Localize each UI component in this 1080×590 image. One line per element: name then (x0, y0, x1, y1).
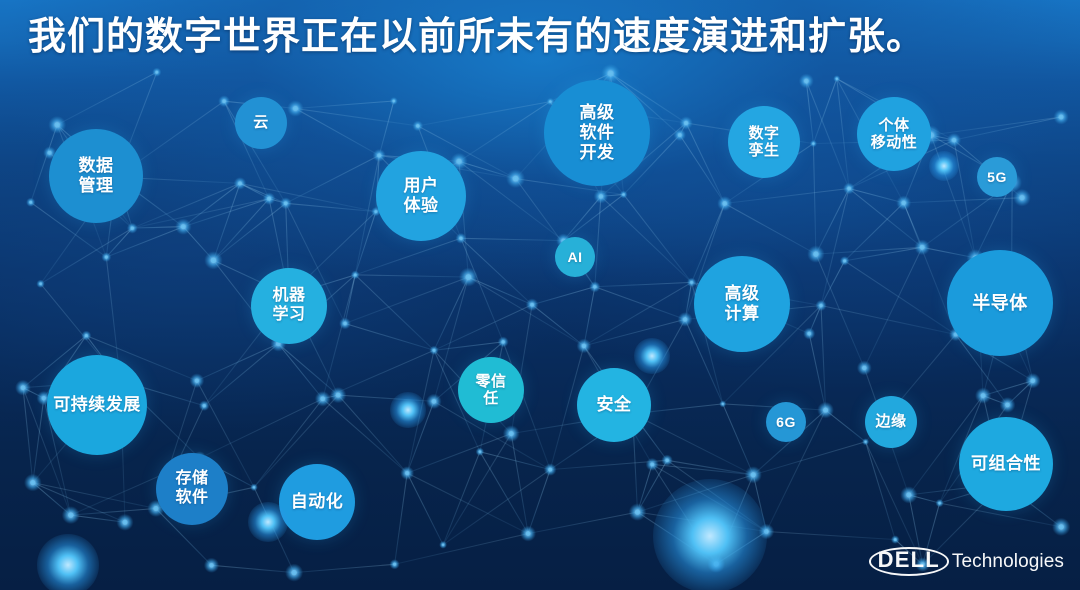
concept-bubble[interactable]: 半导体 (947, 250, 1053, 356)
concept-bubble[interactable]: 用户体验 (376, 151, 466, 241)
concept-bubble[interactable]: 数据管理 (49, 129, 143, 223)
concept-bubble-label: 数字孪生 (746, 125, 781, 160)
concept-bubble-label: 高级软件开发 (578, 103, 617, 162)
concept-bubble[interactable]: 可持续发展 (47, 355, 147, 455)
concept-bubble-label: 安全 (595, 395, 634, 415)
concept-bubble-label: 个体移动性 (869, 117, 920, 152)
concept-bubble-label: 边缘 (873, 413, 908, 430)
concept-bubble[interactable]: 边缘 (865, 396, 917, 448)
concept-bubble[interactable]: 6G (766, 402, 806, 442)
dell-wordmark: DELL (869, 547, 949, 576)
concept-bubble-label: 存储软件 (173, 470, 210, 507)
concept-bubble-label: 可组合性 (969, 454, 1043, 474)
concept-bubble-label: 数据管理 (77, 156, 116, 195)
concept-bubble[interactable]: 安全 (577, 368, 651, 442)
concept-bubble-label: 零信任 (473, 373, 508, 408)
concept-bubble-label: 可持续发展 (51, 395, 143, 415)
concept-bubble[interactable]: 存储软件 (156, 453, 228, 525)
concept-bubble[interactable]: 机器学习 (251, 268, 327, 344)
technologies-wordmark: Technologies (952, 551, 1064, 573)
page-title: 我们的数字世界正在以前所未有的速度演进和扩张。 (28, 14, 1048, 62)
slide-canvas: 我们的数字世界正在以前所未有的速度演进和扩张。 数据管理云用户体验高级软件开发数… (0, 0, 1080, 590)
concept-bubble[interactable]: 个体移动性 (857, 97, 931, 171)
concept-bubble[interactable]: 5G (977, 157, 1017, 197)
concept-bubble-label: 6G (774, 414, 798, 430)
concept-bubble[interactable]: 云 (235, 97, 287, 149)
concept-bubble-label: 5G (985, 169, 1009, 185)
concept-bubble-label: 云 (251, 114, 271, 131)
concept-bubble-label: 用户体验 (402, 176, 441, 215)
concept-bubble-label: AI (566, 249, 585, 265)
concept-bubble[interactable]: 自动化 (279, 464, 355, 540)
concept-bubble-label: 半导体 (970, 293, 1030, 314)
concept-bubble[interactable]: 高级计算 (694, 256, 790, 352)
concept-bubble[interactable]: AI (555, 237, 595, 277)
concept-bubble[interactable]: 零信任 (458, 357, 524, 423)
concept-bubble[interactable]: 高级软件开发 (544, 80, 650, 186)
concept-bubble[interactable]: 数字孪生 (728, 106, 800, 178)
dell-technologies-logo: DELL Technologies (869, 547, 1064, 576)
concept-bubble-label: 高级计算 (723, 284, 762, 323)
concept-bubble-label: 自动化 (289, 492, 346, 512)
concept-bubble[interactable]: 可组合性 (959, 417, 1053, 511)
concept-bubble-label: 机器学习 (270, 287, 307, 324)
